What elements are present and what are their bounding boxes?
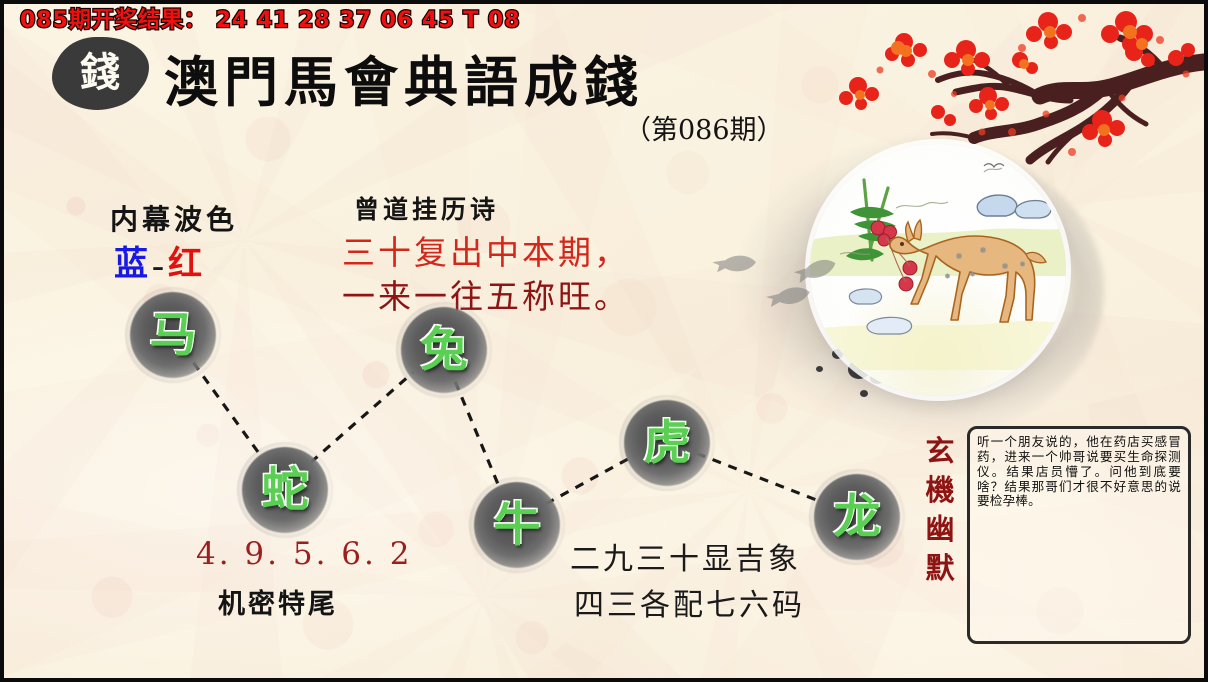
secret-tail-numbers: 4. 9. 5. 6. 2 (196, 536, 412, 572)
poem-line-1: 三十复出中本期， (342, 226, 630, 274)
vertical-label-char: 機 (921, 471, 959, 510)
zodiac-node-马[interactable]: 马 (130, 292, 216, 378)
joke-text: 听一个朋友说的，他在药店买感冒药，进来一个帅哥说要买生命探测仪。结果店员懵了。问… (977, 435, 1181, 509)
plum-blossom-branch-decoration (834, 4, 1204, 184)
vertical-label-char: 默 (921, 549, 959, 588)
secret-tail-caption: 机密特尾 (218, 582, 338, 621)
omen-line-2: 四三各配七六码 (574, 580, 805, 624)
zodiac-node-label: 马 (150, 312, 197, 359)
zodiac-node-label: 牛 (494, 502, 541, 549)
vertical-label-char: 幽 (921, 510, 959, 549)
zodiac-node-牛[interactable]: 牛 (474, 482, 560, 568)
bosei-label: 内幕波色 (110, 198, 238, 238)
vertical-label-char: 玄 (921, 432, 959, 471)
bosei-separator: – (150, 252, 168, 281)
zodiac-node-龙[interactable]: 龙 (814, 474, 900, 560)
bosei-values: 蓝–红 (114, 236, 204, 285)
poster-canvas: 085期开奖结果： 24 41 28 37 06 45 T 08 (0, 0, 1208, 682)
issue-number: （第086期） (624, 108, 784, 147)
omen-line-1: 二九三十显吉象 (570, 534, 801, 578)
bosei-second-color: 红 (168, 244, 204, 284)
zodiac-node-label: 蛇 (262, 467, 309, 514)
zodiac-node-label: 兔 (421, 327, 468, 374)
ink-splatter-dot (860, 390, 868, 397)
lottery-result-banner: 085期开奖结果： 24 41 28 37 06 45 T 08 (20, 2, 521, 34)
joke-text-box: 听一个朋友说的，他在药店买感冒药，进来一个帅哥说要买生命探测仪。结果店员懵了。问… (967, 426, 1191, 644)
page-title: 澳門馬會典語成錢 (164, 38, 644, 117)
bosei-first-color: 蓝 (114, 244, 150, 284)
brand-seal: 錢 (54, 37, 146, 109)
zodiac-node-兔[interactable]: 兔 (401, 307, 487, 393)
zodiac-node-虎[interactable]: 虎 (624, 400, 710, 486)
zodiac-node-label: 虎 (644, 420, 691, 467)
seal-char: 錢 (80, 53, 120, 93)
zodiac-node-蛇[interactable]: 蛇 (242, 447, 328, 533)
poem-title: 曾道挂历诗 (354, 190, 499, 226)
xuanji-youmo-vertical-label: 玄機幽默 (921, 432, 959, 589)
ink-splatter-dot (816, 366, 823, 372)
zodiac-node-label: 龙 (834, 494, 881, 541)
